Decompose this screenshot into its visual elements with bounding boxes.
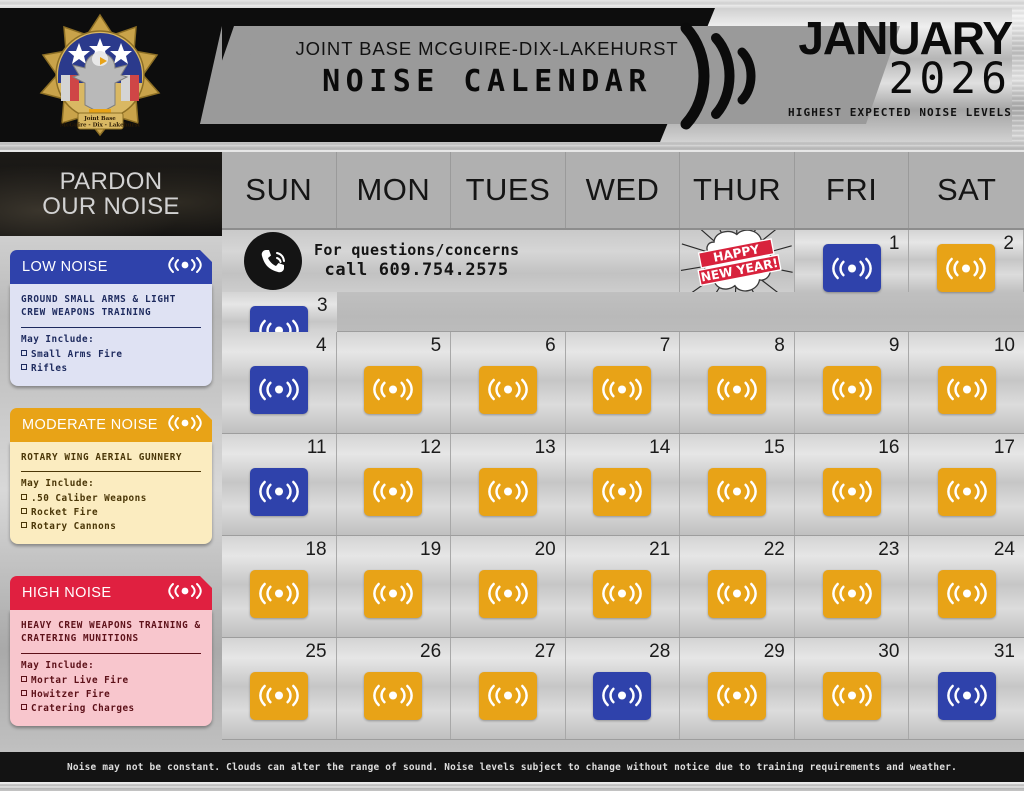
- noise-level-badge-moderate: [708, 468, 766, 516]
- noise-level-badge-moderate: [938, 468, 996, 516]
- day-number: 6: [545, 335, 556, 357]
- legend-item: Rifles: [21, 362, 201, 376]
- phone-icon: [244, 232, 302, 290]
- calendar-day-cell[interactable]: 27: [451, 638, 566, 739]
- legend-item: .50 Caliber Weapons: [21, 492, 201, 506]
- day-number: 26: [420, 641, 441, 663]
- day-number: 11: [307, 437, 327, 459]
- may-include-label: May Include:: [21, 334, 201, 345]
- legend-item-label: Rocket Fire: [31, 507, 98, 518]
- noise-level-badge-moderate: [938, 366, 996, 414]
- calendar-day-cell[interactable]: 18: [222, 536, 337, 637]
- legend-divider: [21, 653, 201, 654]
- calendar-day-cell[interactable]: 16: [795, 434, 910, 535]
- legend-description-high: HEAVY CREW WEAPONS TRAINING & CRATERING …: [21, 619, 201, 646]
- calendar-day-cell[interactable]: 23: [795, 536, 910, 637]
- legend-item-label: .50 Caliber Weapons: [31, 493, 147, 504]
- legend-sidebar: PARDON OUR NOISE LOW NOISE GROUND SMALL …: [0, 152, 222, 752]
- legend-item: Small Arms Fire: [21, 348, 201, 362]
- day-number: 23: [878, 539, 899, 561]
- calendar-day-cell[interactable]: 26: [337, 638, 452, 739]
- calendar-day-cell[interactable]: 22: [680, 536, 795, 637]
- day-number: 29: [764, 641, 785, 663]
- bullet-icon: [21, 690, 27, 696]
- noise-level-badge-low: [250, 468, 308, 516]
- happy-new-year-cell: HAPPYNEW YEAR!: [680, 230, 795, 292]
- legend-item-label: Rifles: [31, 363, 68, 374]
- calendar-day-cell[interactable]: 20: [451, 536, 566, 637]
- noise-level-badge-moderate: [708, 366, 766, 414]
- legend-item: Cratering Charges: [21, 702, 201, 716]
- month-year-block: JANUARY 2026 HIGHEST EXPECTED NOISE LEVE…: [752, 16, 1012, 119]
- bullet-icon: [21, 676, 27, 682]
- noise-level-badge-moderate: [938, 570, 996, 618]
- calendar-day-cell[interactable]: 29: [680, 638, 795, 739]
- legend-card-moderate[interactable]: MODERATE NOISE ROTARY WING AERIAL GUNNER…: [10, 408, 212, 544]
- legend-divider: [21, 327, 201, 328]
- weekday-header-mon: MON: [337, 152, 452, 228]
- noise-level-badge-moderate: [364, 468, 422, 516]
- emblem-line2: McGuire - Dix - Lakehurst: [60, 123, 141, 129]
- legend-description-moderate: ROTARY WING AERIAL GUNNERY: [21, 451, 201, 464]
- page-header: Joint Base McGuire - Dix - Lakehurst JOI…: [0, 0, 1024, 150]
- noise-level-badge-moderate: [479, 366, 537, 414]
- noise-level-badge-moderate: [593, 468, 651, 516]
- day-number: 17: [994, 437, 1015, 459]
- pardon-our-noise-banner: PARDON OUR NOISE: [0, 152, 222, 236]
- header-title-group: JOINT BASE MCGUIRE-DIX-LAKEHURST NOISE C…: [272, 38, 702, 99]
- calendar-day-cell[interactable]: 1: [795, 230, 910, 292]
- day-number: 30: [878, 641, 899, 663]
- noise-calendar-grid: SUNMONTUESWEDTHURFRISAT For questions/co…: [222, 152, 1024, 752]
- calendar-week-row: 25262728293031: [222, 638, 1024, 740]
- day-number: 2: [1003, 233, 1014, 255]
- noise-level-badge-moderate: [479, 570, 537, 618]
- day-number: 8: [774, 335, 785, 357]
- noise-level-badge-moderate: [823, 468, 881, 516]
- day-number: 5: [431, 335, 442, 357]
- bottom-metal-strip: [0, 782, 1024, 791]
- day-number: 20: [535, 539, 556, 561]
- noise-level-badge-moderate: [593, 570, 651, 618]
- noise-level-badge-moderate: [823, 672, 881, 720]
- legend-item-label: Rotary Cannons: [31, 521, 116, 532]
- day-number: 3: [317, 295, 328, 317]
- legend-header-high: HIGH NOISE: [10, 576, 212, 610]
- calendar-week-row: 18192021222324: [222, 536, 1024, 638]
- legend-divider: [21, 471, 201, 472]
- legend-body-low: GROUND SMALL ARMS & LIGHT CREW WEAPONS T…: [10, 284, 212, 386]
- bullet-icon: [21, 522, 27, 528]
- calendar-day-cell[interactable]: 6: [451, 332, 566, 433]
- day-number: 10: [994, 335, 1015, 357]
- weekday-header-sun: SUN: [222, 152, 337, 228]
- questions-concerns-cell: For questions/concernscall 609.754.2575: [222, 230, 680, 292]
- calendar-week-row: 11121314151617: [222, 434, 1024, 536]
- day-number: 18: [305, 539, 326, 561]
- bullet-icon: [21, 494, 27, 500]
- day-number: 4: [316, 335, 327, 357]
- noise-level-badge-moderate: [479, 468, 537, 516]
- calendar-day-cell[interactable]: 31: [909, 638, 1024, 739]
- calendar-week-row: For questions/concernscall 609.754.2575H…: [222, 230, 1024, 332]
- day-number: 21: [649, 539, 670, 561]
- footer-disclaimer: Noise may not be constant. Clouds can al…: [67, 762, 957, 773]
- may-include-label: May Include:: [21, 660, 201, 671]
- day-number: 22: [764, 539, 785, 561]
- day-number: 16: [878, 437, 899, 459]
- legend-label-low: LOW NOISE: [22, 259, 108, 275]
- noise-level-badge-moderate: [479, 672, 537, 720]
- questions-concerns-text: For questions/concernscall 609.754.2575: [314, 241, 519, 281]
- calendar-day-cell[interactable]: 24: [909, 536, 1024, 637]
- legend-body-high: HEAVY CREW WEAPONS TRAINING & CRATERING …: [10, 610, 212, 726]
- day-number: 31: [994, 641, 1015, 663]
- noise-level-badge-moderate: [823, 366, 881, 414]
- calendar-day-cell[interactable]: 8: [680, 332, 795, 433]
- day-number: 12: [420, 437, 441, 459]
- may-include-label: May Include:: [21, 478, 201, 489]
- day-number: 9: [889, 335, 900, 357]
- bullet-icon: [21, 704, 27, 710]
- calendar-day-cell[interactable]: 2: [909, 230, 1024, 292]
- calendar-day-cell[interactable]: 4: [222, 332, 337, 433]
- calendar-day-cell[interactable]: 11: [222, 434, 337, 535]
- legend-card-high[interactable]: HIGH NOISE HEAVY CREW WEAPONS TRAINING &…: [10, 576, 212, 726]
- legend-header-moderate: MODERATE NOISE: [10, 408, 212, 442]
- day-number: 13: [535, 437, 556, 459]
- day-number: 14: [649, 437, 670, 459]
- day-number: 1: [889, 233, 900, 255]
- emblem-line1: Joint Base: [83, 116, 116, 122]
- noise-level-badge-low: [938, 672, 996, 720]
- day-number: 15: [764, 437, 785, 459]
- header-subtitle: JOINT BASE MCGUIRE-DIX-LAKEHURST: [272, 38, 702, 60]
- page-footer: Noise may not be constant. Clouds can al…: [0, 752, 1024, 782]
- noise-level-badge-low: [593, 672, 651, 720]
- calendar-day-cell[interactable]: 15: [680, 434, 795, 535]
- noise-level-badge-moderate: [593, 366, 651, 414]
- legend-item-label: Cratering Charges: [31, 703, 135, 714]
- day-number: 27: [535, 641, 556, 663]
- year-label: 2026: [752, 58, 1012, 102]
- page-title: NOISE CALENDAR: [272, 64, 702, 99]
- legend-item: Rocket Fire: [21, 506, 201, 520]
- noise-level-badge-moderate: [823, 570, 881, 618]
- weekday-header-tues: TUES: [451, 152, 566, 228]
- calendar-week-row: 45678910: [222, 332, 1024, 434]
- legend-item-label: Small Arms Fire: [31, 349, 122, 360]
- sound-wave-icon: [168, 255, 202, 279]
- noise-level-badge-low: [250, 366, 308, 414]
- questions-concerns-line1: For questions/concerns: [314, 241, 519, 260]
- calendar-day-cell[interactable]: 7: [566, 332, 681, 433]
- calendar-day-cell[interactable]: 30: [795, 638, 910, 739]
- sound-wave-icon: [168, 413, 202, 437]
- calendar-weeks: For questions/concernscall 609.754.2575H…: [222, 230, 1024, 740]
- weekday-header-wed: WED: [566, 152, 681, 228]
- day-number: 25: [305, 641, 326, 663]
- calendar-day-cell[interactable]: 28: [566, 638, 681, 739]
- calendar-day-cell[interactable]: 19: [337, 536, 452, 637]
- base-emblem-logo: Joint Base McGuire - Dix - Lakehurst: [33, 13, 168, 138]
- sound-wave-icon: [168, 581, 202, 605]
- calendar-day-cell[interactable]: 9: [795, 332, 910, 433]
- legend-item: Howitzer Fire: [21, 688, 201, 702]
- legend-body-moderate: ROTARY WING AERIAL GUNNERY May Include: …: [10, 442, 212, 544]
- calendar-day-cell[interactable]: 14: [566, 434, 681, 535]
- legend-item-label: Mortar Live Fire: [31, 675, 129, 686]
- calendar-day-cell[interactable]: 17: [909, 434, 1024, 535]
- legend-item: Mortar Live Fire: [21, 674, 201, 688]
- noise-level-badge-moderate: [708, 570, 766, 618]
- calendar-day-cell[interactable]: 21: [566, 536, 681, 637]
- calendar-day-cell[interactable]: 5: [337, 332, 452, 433]
- weekday-header-thur: THUR: [680, 152, 795, 228]
- weekday-header-sat: SAT: [909, 152, 1024, 228]
- calendar-day-cell[interactable]: 25: [222, 638, 337, 739]
- day-number: 7: [660, 335, 671, 357]
- happy-new-year-burst-icon: HAPPYNEW YEAR!: [680, 230, 794, 292]
- legend-item: Rotary Cannons: [21, 520, 201, 534]
- legend-header-low: LOW NOISE: [10, 250, 212, 284]
- day-number: 19: [420, 539, 441, 561]
- day-number: 28: [649, 641, 670, 663]
- noise-level-badge-moderate: [364, 366, 422, 414]
- legend-description-low: GROUND SMALL ARMS & LIGHT CREW WEAPONS T…: [21, 293, 201, 320]
- legend-card-low[interactable]: LOW NOISE GROUND SMALL ARMS & LIGHT CREW…: [10, 250, 212, 386]
- header-tagline: HIGHEST EXPECTED NOISE LEVELS: [752, 106, 1012, 119]
- calendar-day-cell[interactable]: 13: [451, 434, 566, 535]
- noise-level-badge-low: [823, 244, 881, 292]
- weekday-header-row: SUNMONTUESWEDTHURFRISAT: [222, 152, 1024, 230]
- noise-level-badge-moderate: [937, 244, 995, 292]
- calendar-day-cell[interactable]: 10: [909, 332, 1024, 433]
- bullet-icon: [21, 364, 27, 370]
- noise-level-badge-moderate: [250, 672, 308, 720]
- questions-concerns-phone[interactable]: call 609.754.2575: [314, 260, 519, 281]
- legend-item-label: Howitzer Fire: [31, 689, 110, 700]
- noise-level-badge-moderate: [250, 570, 308, 618]
- bullet-icon: [21, 350, 27, 356]
- pardon-line-2: OUR NOISE: [42, 194, 179, 219]
- legend-label-moderate: MODERATE NOISE: [22, 417, 158, 433]
- weekday-header-fri: FRI: [795, 152, 910, 228]
- bullet-icon: [21, 508, 27, 514]
- noise-level-badge-moderate: [708, 672, 766, 720]
- calendar-day-cell[interactable]: 12: [337, 434, 452, 535]
- sound-wave-icon: [672, 16, 764, 136]
- noise-level-badge-moderate: [364, 570, 422, 618]
- pardon-line-1: PARDON: [42, 169, 179, 194]
- noise-level-badge-moderate: [364, 672, 422, 720]
- legend-label-high: HIGH NOISE: [22, 585, 111, 601]
- day-number: 24: [994, 539, 1015, 561]
